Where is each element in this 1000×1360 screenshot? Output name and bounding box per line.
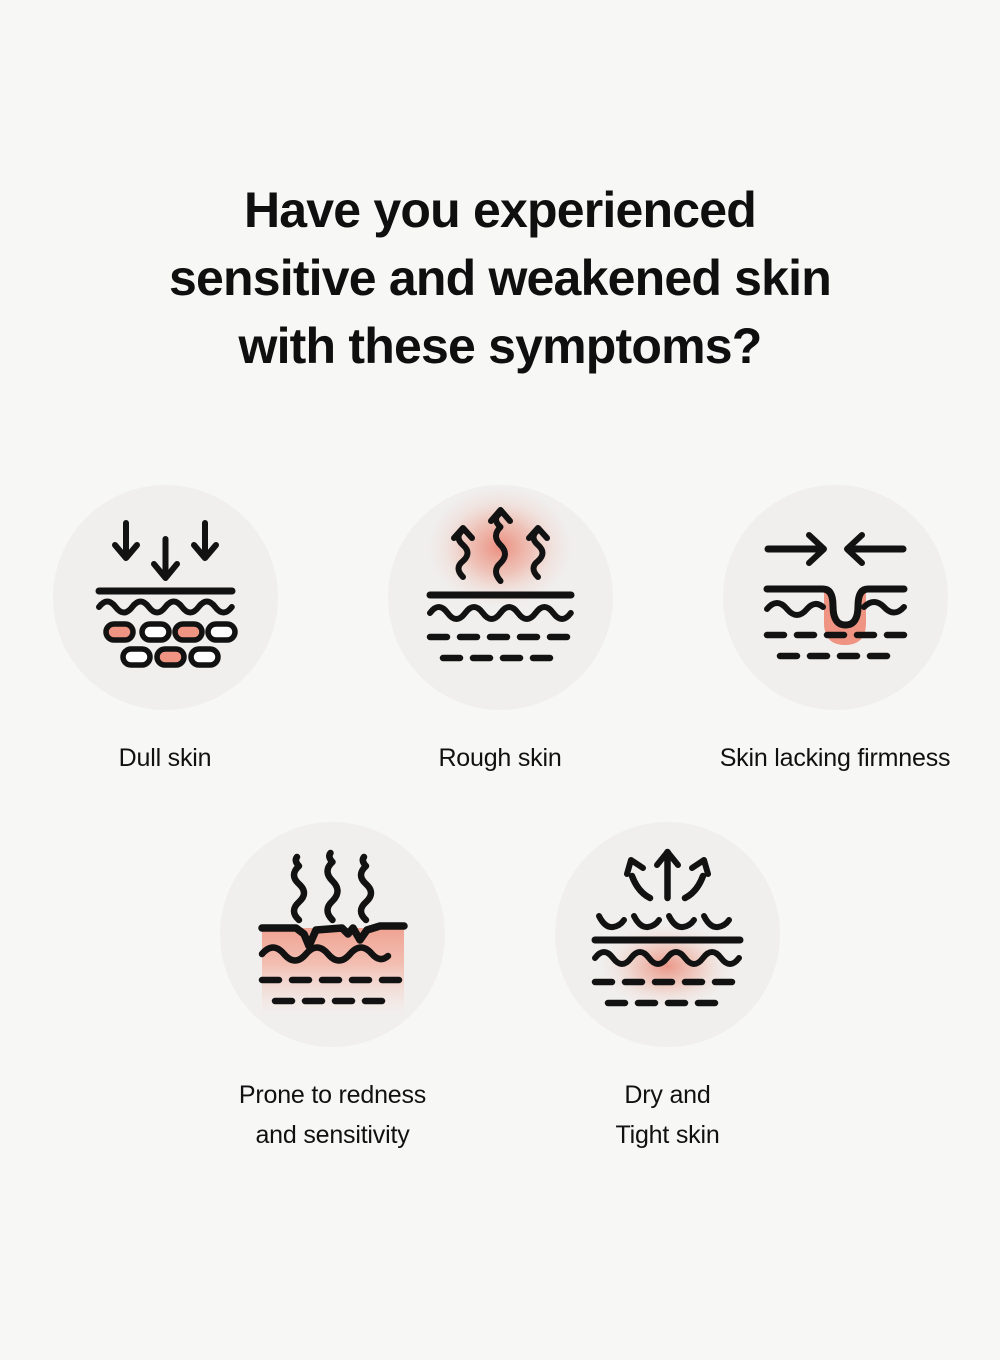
page-title: Have you experienced sensitive and weake… bbox=[0, 176, 1000, 380]
skin-lacking-firmness-icon bbox=[723, 485, 948, 710]
headline-line-3: with these symptoms? bbox=[0, 312, 1000, 380]
dull-skin-icon bbox=[53, 485, 278, 710]
symptom-card-rough-skin: Rough skin bbox=[360, 485, 640, 778]
symptom-label: Prone to redness and sensitivity bbox=[239, 1075, 426, 1155]
symptom-label: Dry and Tight skin bbox=[615, 1075, 719, 1155]
rough-skin-icon bbox=[388, 485, 613, 710]
symptom-label: Dull skin bbox=[119, 738, 212, 778]
symptom-icon-disc bbox=[555, 822, 780, 1047]
prone-to-redness-icon bbox=[220, 822, 445, 1047]
symptom-icon-disc bbox=[53, 485, 278, 710]
symptom-card-prone-to-redness: Prone to redness and sensitivity bbox=[193, 822, 473, 1155]
symptom-row-bottom: Prone to redness and sensitivity bbox=[0, 822, 1000, 1155]
symptom-icon-disc bbox=[388, 485, 613, 710]
symptom-label: Rough skin bbox=[438, 738, 561, 778]
symptom-card-skin-lacking-firmness: Skin lacking firmness bbox=[695, 485, 975, 778]
headline-line-1: Have you experienced bbox=[0, 176, 1000, 244]
symptom-card-dry-and-tight-skin: Dry and Tight skin bbox=[528, 822, 808, 1155]
symptom-icon-disc bbox=[220, 822, 445, 1047]
symptom-row-top: Dull skin bbox=[0, 485, 1000, 778]
headline-line-2: sensitive and weakened skin bbox=[0, 244, 1000, 312]
symptom-icon-disc bbox=[723, 485, 948, 710]
dry-tight-skin-icon bbox=[555, 822, 780, 1047]
symptom-label: Skin lacking firmness bbox=[720, 738, 951, 778]
symptom-card-dull-skin: Dull skin bbox=[25, 485, 305, 778]
